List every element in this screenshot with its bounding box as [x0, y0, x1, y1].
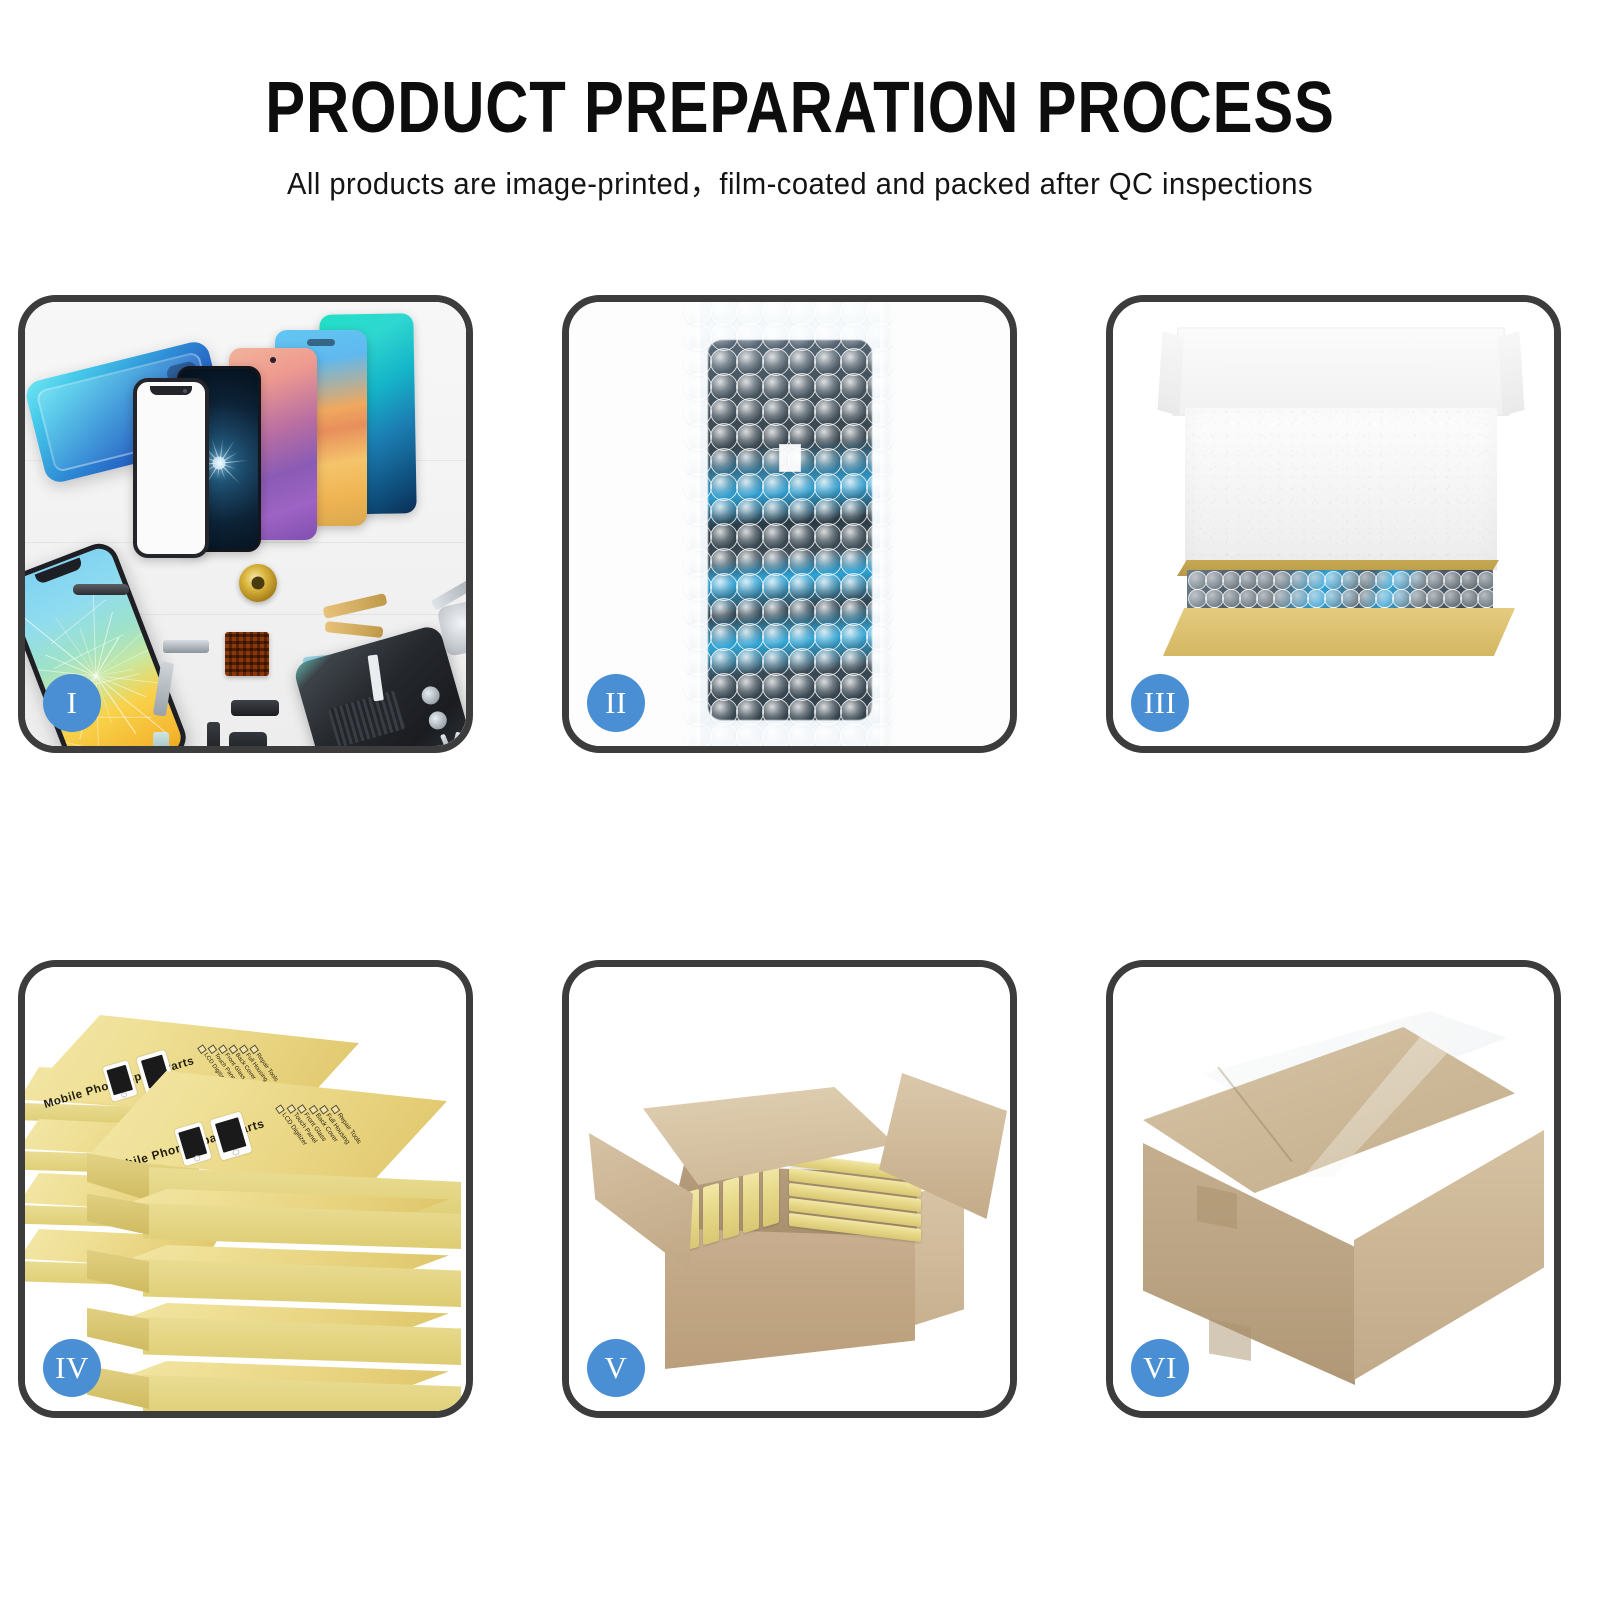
bubble-cell — [840, 698, 868, 726]
bubble-cell — [840, 398, 868, 426]
camera-lens-icon — [420, 684, 442, 706]
bubble-cell — [684, 398, 712, 426]
loudspeaker-module-part — [229, 732, 267, 746]
page-title: PRODUCT PREPARATION PROCESS — [136, 72, 1464, 144]
screw — [464, 737, 466, 746]
process-step-panel-6: VI — [1106, 960, 1561, 1418]
bubble-cell — [840, 648, 868, 676]
bubble-cell — [866, 723, 894, 746]
bubble-cell — [710, 548, 738, 576]
bubble-cell — [684, 723, 712, 746]
bubble-cell — [788, 723, 816, 746]
step-badge-4: IV — [43, 1339, 101, 1397]
bubble-cell — [814, 448, 842, 476]
bubble-cell — [684, 598, 712, 626]
bubble-cell — [866, 548, 894, 576]
bubble-cell — [736, 673, 764, 701]
step-badge-3: III — [1131, 674, 1189, 732]
process-step-panel-5: V — [562, 960, 1017, 1418]
bubble-cell — [866, 323, 894, 351]
bubble-cell — [684, 348, 712, 376]
bubble-cell — [736, 598, 764, 626]
bubble-cell — [866, 473, 894, 501]
bubble-cell — [840, 323, 868, 351]
bubble-cell — [814, 373, 842, 401]
bubble-cell — [788, 648, 816, 676]
bubble-cell — [840, 423, 868, 451]
bubble-cell — [814, 548, 842, 576]
white-flex-strip — [368, 654, 384, 701]
camera-lens-icon — [427, 709, 449, 731]
page-subtitle: All products are image-printed，film-coat… — [48, 168, 1552, 199]
bubble-cell — [736, 323, 764, 351]
retail-box-stack: Mobile Phone Spare Parts LCD DigitizerTo… — [25, 967, 466, 1411]
bubble-cell — [866, 673, 894, 701]
bubble-cell — [788, 598, 816, 626]
bubble-cell — [710, 473, 738, 501]
bubble-cell — [866, 423, 894, 451]
notch-icon — [150, 386, 192, 395]
bubble-cell — [814, 323, 842, 351]
shatter-line — [63, 741, 159, 746]
panel-5-image — [569, 967, 1010, 1411]
step-badge-6: VI — [1131, 1339, 1189, 1397]
battery-part — [328, 690, 406, 746]
panel-4-image: Mobile Phone Spare Parts LCD DigitizerTo… — [25, 967, 466, 1411]
panel-1-image: 08:08 Mon 18 — [25, 302, 466, 746]
bubble-cell — [788, 573, 816, 601]
bubble-cell — [710, 423, 738, 451]
screw — [452, 732, 461, 746]
bubble-cell — [866, 398, 894, 426]
phone-screen-1-glass — [133, 378, 209, 558]
bubble-cell — [762, 498, 790, 526]
bubble-cell — [840, 348, 868, 376]
bubble-cell — [814, 673, 842, 701]
step-badge-2: II — [587, 674, 645, 732]
bubble-cell — [788, 548, 816, 576]
bubble-cell — [814, 648, 842, 676]
bubble-cell — [840, 723, 868, 746]
bubble-cell — [710, 498, 738, 526]
bubble-cell — [762, 673, 790, 701]
bubble-cell — [684, 698, 712, 726]
shatter-line — [93, 589, 97, 676]
bubble-cell — [736, 498, 764, 526]
bubble-cell — [710, 373, 738, 401]
process-step-grid: 08:08 Mon 18 — [0, 250, 1600, 1600]
bubble-cell — [762, 598, 790, 626]
bubble-cell — [736, 573, 764, 601]
bubble-cell — [710, 448, 738, 476]
bubble-cell — [788, 348, 816, 376]
bubble-cell — [684, 573, 712, 601]
bubble-cell — [840, 473, 868, 501]
bubble-cell — [762, 573, 790, 601]
bubble-cell — [710, 348, 738, 376]
bubble-cell — [710, 623, 738, 651]
process-step-panel-4: Mobile Phone Spare Parts LCD DigitizerTo… — [18, 960, 473, 1418]
bubble-cell — [788, 523, 816, 551]
bubble-cell — [814, 473, 842, 501]
bubble-cell — [840, 523, 868, 551]
retail-box-in-carton — [703, 1183, 719, 1246]
bubble-cell — [684, 373, 712, 401]
punch-hole-notch-icon — [307, 339, 335, 346]
bubble-cell — [840, 498, 868, 526]
bubble-cell — [840, 548, 868, 576]
bubble-cell — [684, 473, 712, 501]
bubble-cell — [866, 648, 894, 676]
bubble-cell — [814, 723, 842, 746]
bubble-cell — [736, 723, 764, 746]
bubble-cell — [866, 523, 894, 551]
bubble-cell — [762, 523, 790, 551]
bubble-cell — [710, 673, 738, 701]
bubble-cell — [762, 323, 790, 351]
bubble-cell — [814, 523, 842, 551]
bubble-cell — [762, 648, 790, 676]
bubble-cell — [788, 373, 816, 401]
bubble-cell — [710, 523, 738, 551]
bubble-cell — [788, 623, 816, 651]
bubble-cell — [814, 573, 842, 601]
bubble-cell — [762, 398, 790, 426]
bubble-cell — [736, 423, 764, 451]
panel-2-image — [569, 302, 1010, 746]
bubble-cell — [814, 348, 842, 376]
bubble-cell — [736, 473, 764, 501]
bubble-cell — [788, 323, 816, 351]
bubble-cell — [866, 573, 894, 601]
vibrator-module-part — [231, 700, 279, 716]
process-step-panel-1: 08:08 Mon 18 — [18, 295, 473, 753]
step-badge-5: V — [587, 1339, 645, 1397]
bubble-cell — [814, 623, 842, 651]
bubble-cell — [788, 473, 816, 501]
screw-set-part — [443, 732, 466, 746]
bubble-cell — [710, 698, 738, 726]
bubble-cell — [710, 648, 738, 676]
bubble-cell — [684, 498, 712, 526]
mailer-box-lid — [1172, 327, 1509, 416]
connector-part — [207, 722, 220, 746]
bubble-cell — [710, 573, 738, 601]
bubble-cell — [710, 598, 738, 626]
bubble-cell — [684, 523, 712, 551]
bubble-cell — [736, 398, 764, 426]
bubble-cell — [814, 498, 842, 526]
bubble-cell — [840, 673, 868, 701]
bubble-cell — [814, 423, 842, 451]
bubble-cell — [710, 323, 738, 351]
panel-3-image — [1113, 302, 1554, 746]
bubble-cell — [762, 348, 790, 376]
bubble-cell — [762, 448, 790, 476]
retail-box-in-carton — [743, 1171, 759, 1234]
front-camera-icon — [270, 357, 276, 363]
retail-box-in-carton — [763, 1165, 779, 1228]
bubble-cell — [788, 673, 816, 701]
bubble-cell — [788, 498, 816, 526]
bubble-cell — [762, 473, 790, 501]
bubble-cell — [736, 548, 764, 576]
bubble-cell — [866, 498, 894, 526]
bubble-cell — [762, 698, 790, 726]
bubble-cell — [866, 623, 894, 651]
bubble-cell — [788, 698, 816, 726]
bubble-cell — [710, 398, 738, 426]
sealed-carton-right-face — [1354, 1130, 1544, 1380]
bubble-wrap-sleeve — [687, 302, 893, 746]
bubble-cell — [684, 673, 712, 701]
page-header: PRODUCT PREPARATION PROCESS All products… — [0, 0, 1600, 250]
flex-cable-part — [163, 640, 209, 653]
bubble-cell — [684, 323, 712, 351]
sim-tray-part — [153, 732, 169, 746]
bubble-cell — [736, 348, 764, 376]
bubble-cell — [684, 423, 712, 451]
bubble-cell — [866, 348, 894, 376]
bubble-cell — [762, 723, 790, 746]
bubble-cell — [788, 398, 816, 426]
bubble-cell — [788, 448, 816, 476]
bubble-cell — [1477, 589, 1496, 608]
bubble-cell — [762, 423, 790, 451]
wireless-charging-coil-part — [239, 564, 277, 602]
bubble-cell — [736, 448, 764, 476]
bubble-cell — [684, 448, 712, 476]
process-step-panel-2: II — [562, 295, 1017, 753]
retail-box-in-carton — [723, 1177, 739, 1240]
bubble-cell — [814, 598, 842, 626]
bubble-cell — [1477, 571, 1496, 590]
process-step-panel-3: III — [1106, 295, 1561, 753]
bubble-cell — [762, 623, 790, 651]
bubble-cell — [736, 373, 764, 401]
bubble-cell — [736, 698, 764, 726]
bubble-cell — [840, 598, 868, 626]
step-badge-1: I — [43, 674, 101, 732]
foam-liner — [1185, 408, 1497, 570]
bubble-cell — [684, 548, 712, 576]
bubble-cell — [736, 523, 764, 551]
bubble-cell — [866, 373, 894, 401]
earpiece-speaker-part — [73, 584, 129, 595]
bubble-cell — [762, 373, 790, 401]
bubble-cell — [814, 698, 842, 726]
panel-6-image — [1113, 967, 1554, 1411]
bubble-cell — [736, 648, 764, 676]
bubble-cell — [866, 448, 894, 476]
bubble-cell — [840, 623, 868, 651]
ic-chip-part — [225, 632, 269, 676]
bubble-cell — [684, 623, 712, 651]
bubble-cell — [814, 398, 842, 426]
bubble-cell — [840, 448, 868, 476]
bubble-cell — [736, 623, 764, 651]
mailer-box-front-wall — [1163, 608, 1515, 656]
bubble-cell — [840, 373, 868, 401]
bubble-cell — [840, 573, 868, 601]
bubble-cell — [866, 698, 894, 726]
bubble-grid-icon — [687, 302, 893, 746]
bubble-cell — [762, 548, 790, 576]
bubble-cell — [710, 723, 738, 746]
bubble-cell — [684, 648, 712, 676]
bubble-cell — [866, 598, 894, 626]
bubble-cell — [788, 423, 816, 451]
